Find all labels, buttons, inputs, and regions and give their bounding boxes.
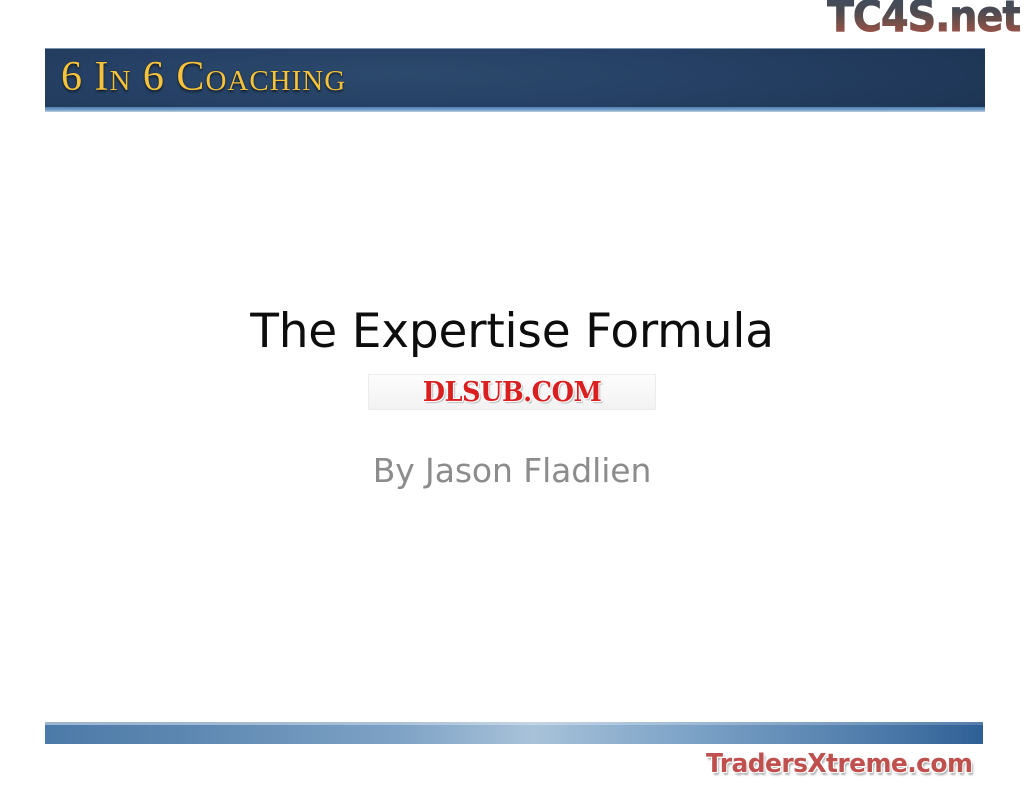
slide-subtitle: By Jason Fladlien — [0, 451, 1024, 490]
tradersxtreme-watermark: TradersXtreme.com — [706, 751, 972, 777]
presentation-slide: TC4S.net 6 In 6 Coaching The Expertise F… — [0, 0, 1024, 791]
dlsub-watermark-text: DLSUB.COM — [423, 379, 602, 406]
dlsub-watermark: DLSUB.COM — [368, 374, 656, 410]
banner-title: 6 In 6 Coaching — [61, 53, 346, 101]
title-block: The Expertise Formula — [0, 306, 1024, 359]
footer-accent-bar — [45, 722, 983, 744]
banner-underline — [45, 107, 985, 112]
slide-title: The Expertise Formula — [0, 306, 1024, 359]
tc4s-watermark: TC4S.net — [826, 0, 1020, 39]
slide-header-banner: 6 In 6 Coaching — [45, 48, 985, 107]
